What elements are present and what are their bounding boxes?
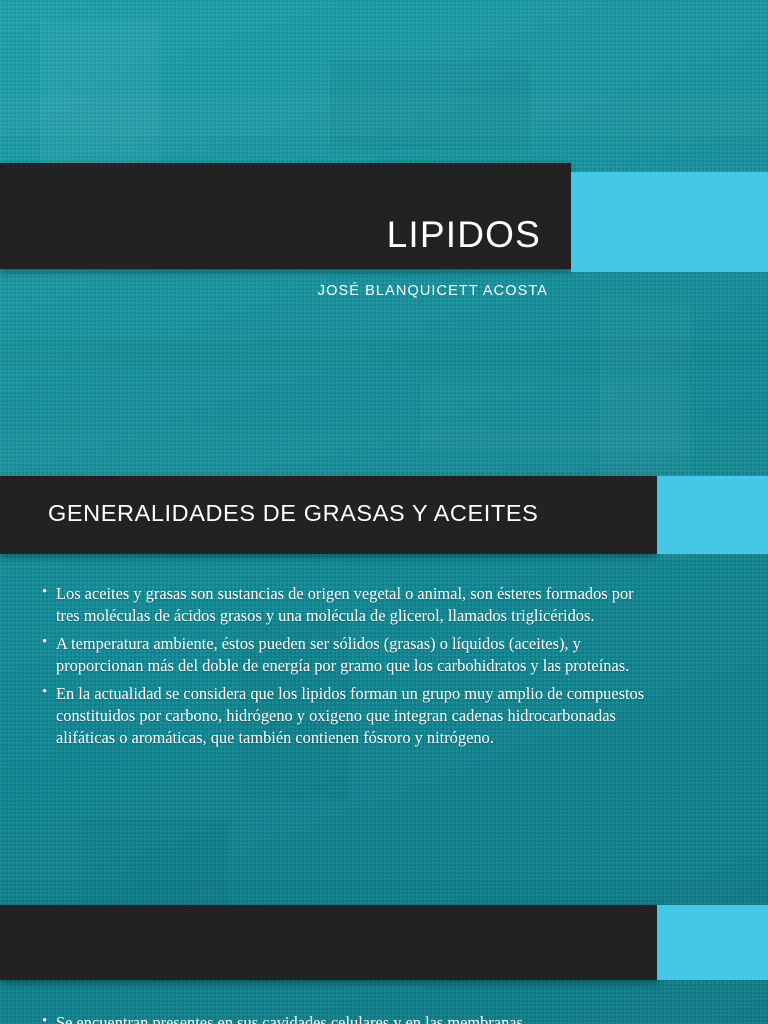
list-item: Se encuentran presentes en sus cavidades… bbox=[40, 1012, 650, 1024]
slide3-bullet-list: Se encuentran presentes en sus cavidades… bbox=[40, 1012, 650, 1024]
slide2-title-accent-block bbox=[657, 476, 768, 554]
slide2-body: Los aceites y grasas son sustancias de o… bbox=[40, 583, 650, 755]
slide1-subtitle: JOSÉ BLANQUICETT ACOSTA bbox=[0, 283, 548, 299]
slide2-bullet-list: Los aceites y grasas son sustancias de o… bbox=[40, 583, 650, 749]
slide1-title: LIPIDOS bbox=[387, 216, 541, 253]
list-item: En la actualidad se considera que los li… bbox=[40, 683, 650, 749]
slide3-title-bar bbox=[0, 905, 657, 980]
slide2-title: GENERALIDADES DE GRASAS Y ACEITES bbox=[48, 500, 538, 527]
slide3-body: Se encuentran presentes en sus cavidades… bbox=[40, 1012, 650, 1024]
list-item: A temperatura ambiente, éstos pueden ser… bbox=[40, 633, 650, 677]
list-item: Los aceites y grasas son sustancias de o… bbox=[40, 583, 650, 627]
slide1-title-accent-block bbox=[571, 172, 768, 272]
slide1-title-bar: LIPIDOS bbox=[0, 163, 571, 269]
slide3-title-accent-block bbox=[657, 905, 768, 980]
